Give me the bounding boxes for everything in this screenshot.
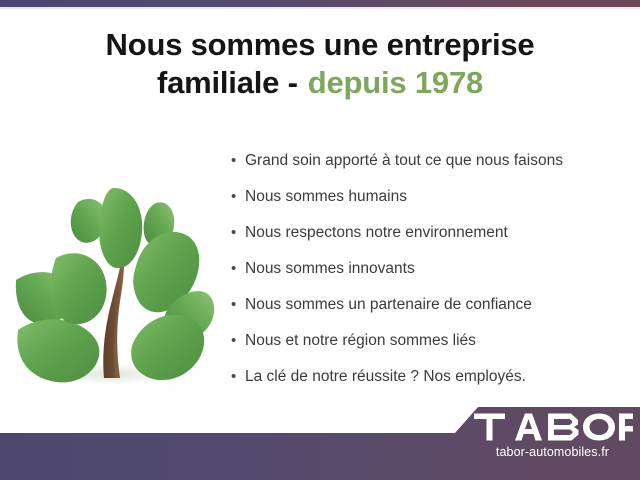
bullet-marker-icon: • — [228, 148, 245, 173]
list-item: • La clé de notre réussite ? Nos employé… — [228, 364, 628, 396]
leaf-right-lower — [131, 315, 204, 380]
list-item-label: Nous sommes innovants — [245, 256, 628, 281]
top-accent-bar — [0, 0, 640, 7]
bullet-marker-icon: • — [228, 256, 245, 281]
slide-heading: Nous sommes une entreprise familiale -de… — [30, 26, 610, 102]
list-item-label: Nous sommes un partenaire de confiance — [245, 292, 628, 317]
slide-canvas: Nous sommes une entreprise familiale -de… — [0, 0, 640, 480]
list-item: • Nous sommes un partenaire de confiance — [228, 292, 628, 324]
list-item-label: Nous et notre région sommes liés — [245, 328, 628, 353]
list-item: • Nous respectons notre environnement — [228, 220, 628, 252]
leaf-left-lower — [17, 319, 99, 382]
tree-illustration — [8, 150, 216, 390]
leaf-left-mid — [51, 253, 107, 324]
brand-tagline: tabor-automobiles.fr — [470, 445, 635, 460]
list-item: • Nous sommes innovants — [228, 256, 628, 288]
heading-line-1: Nous sommes une entreprise — [106, 27, 535, 62]
top-accent-bar-edge — [0, 7, 640, 9]
brand-lockup[interactable]: tabor-automobiles.fr — [470, 412, 635, 460]
heading-line-2-accent: depuis 1978 — [308, 65, 483, 100]
bullet-marker-icon: • — [228, 292, 245, 317]
list-item-label: La clé de notre réussite ? Nos employés. — [245, 364, 628, 389]
bullet-marker-icon: • — [228, 364, 245, 389]
tabor-logo — [473, 412, 633, 442]
list-item-label: Nous respectons notre environnement — [245, 220, 628, 245]
bullet-marker-icon: • — [228, 328, 245, 353]
bullet-marker-icon: • — [228, 220, 245, 245]
list-item-label: Grand soin apporté à tout ce que nous fa… — [245, 148, 628, 173]
list-item: • Nous et notre région sommes liés — [228, 328, 628, 360]
benefits-list: • Grand soin apporté à tout ce que nous … — [228, 148, 628, 400]
heading-line-2-plain: familiale - — [157, 65, 298, 100]
list-item-label: Nous sommes humains — [245, 184, 628, 209]
list-item: • Grand soin apporté à tout ce que nous … — [228, 148, 628, 180]
list-item: • Nous sommes humains — [228, 184, 628, 216]
leaf-top-center — [99, 188, 142, 268]
bullet-marker-icon: • — [228, 184, 245, 209]
